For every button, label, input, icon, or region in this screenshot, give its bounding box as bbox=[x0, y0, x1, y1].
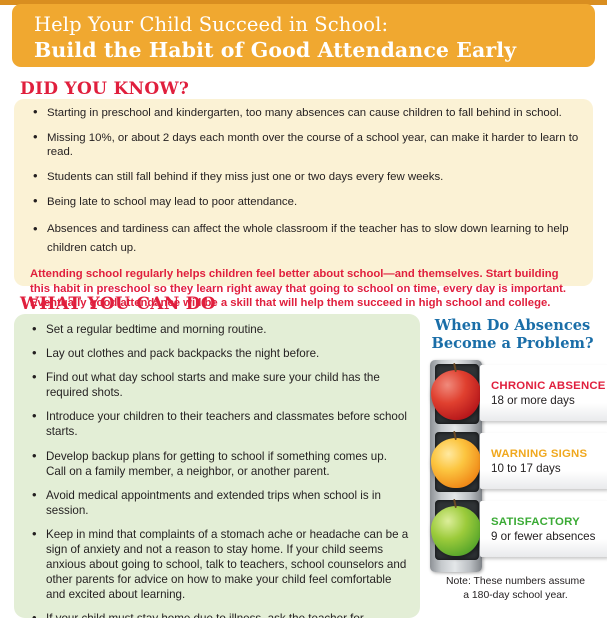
level-value: 10 to 17 days bbox=[491, 461, 607, 476]
lamp-socket-middle bbox=[435, 432, 479, 492]
list-item: Avoid medical appointments and extended … bbox=[24, 488, 410, 518]
label-text-group: SATISFACTORY 9 or fewer absences bbox=[480, 501, 607, 544]
absences-title-line1: When Do Absences bbox=[435, 317, 590, 334]
traffic-light-graphic bbox=[422, 360, 486, 572]
list-item: Introduce your children to their teacher… bbox=[24, 409, 410, 439]
what-you-can-do-panel: Set a regular bedtime and morning routin… bbox=[14, 314, 420, 618]
list-item: Find out what day school starts and make… bbox=[24, 370, 410, 400]
absences-title-line2: Become a Problem? bbox=[424, 335, 601, 353]
level-label: CHRONIC ABSENCE bbox=[491, 379, 607, 393]
header-title-line2: Build the Habit of Good Attendance Early bbox=[34, 37, 595, 63]
lamp-socket-bottom bbox=[435, 500, 479, 560]
infographic-page: Help Your Child Succeed in School: Build… bbox=[0, 0, 607, 618]
level-value: 9 or fewer absences bbox=[491, 529, 607, 544]
absence-level-chronic: CHRONIC ABSENCE 18 or more days bbox=[480, 365, 607, 408]
what-you-can-do-list: Set a regular bedtime and morning routin… bbox=[24, 322, 410, 618]
list-item: Students can still fall behind if they m… bbox=[26, 170, 581, 184]
did-you-know-panel: Starting in preschool and kindergarten, … bbox=[14, 99, 593, 286]
lamp-socket-top bbox=[435, 364, 479, 424]
red-apple-icon bbox=[431, 370, 481, 420]
list-item: If your child must stay home due to illn… bbox=[24, 611, 410, 618]
label-text-group: CHRONIC ABSENCE 18 or more days bbox=[480, 365, 607, 408]
green-apple-icon bbox=[431, 506, 481, 556]
list-item: Missing 10%, or about 2 days each month … bbox=[26, 131, 581, 159]
level-label: SATISFACTORY bbox=[491, 515, 607, 529]
header-title-line1: Help Your Child Succeed in School: bbox=[34, 12, 595, 37]
did-you-know-heading: DID YOU KNOW? bbox=[20, 79, 189, 99]
note-line2: a 180-day school year. bbox=[424, 589, 607, 603]
list-item: Absences and tardiness can affect the wh… bbox=[26, 220, 581, 258]
list-item: Keep in mind that complaints of a stomac… bbox=[24, 527, 410, 602]
list-item: Being late to school may lead to poor at… bbox=[26, 195, 581, 209]
absences-panel: When Do Absences Become a Problem? CHRON… bbox=[424, 313, 607, 618]
level-value: 18 or more days bbox=[491, 393, 607, 408]
list-item: Set a regular bedtime and morning routin… bbox=[24, 322, 410, 337]
level-label: WARNING SIGNS bbox=[491, 447, 607, 461]
yellow-apple-icon bbox=[431, 438, 481, 488]
what-you-can-do-heading: WHAT YOU CAN DO bbox=[20, 294, 216, 314]
list-item: Starting in preschool and kindergarten, … bbox=[26, 106, 581, 120]
list-item: Develop backup plans for getting to scho… bbox=[24, 449, 410, 479]
did-you-know-list: Starting in preschool and kindergarten, … bbox=[26, 106, 581, 258]
absence-level-warning: WARNING SIGNS 10 to 17 days bbox=[480, 433, 607, 476]
label-text-group: WARNING SIGNS 10 to 17 days bbox=[480, 433, 607, 476]
note-line1: Note: These numbers assume bbox=[424, 575, 607, 589]
header-banner: Help Your Child Succeed in School: Build… bbox=[12, 4, 595, 67]
absences-note: Note: These numbers assume a 180-day sch… bbox=[424, 575, 607, 602]
absences-panel-title: When Do Absences Become a Problem? bbox=[424, 313, 607, 352]
absence-level-satisfactory: SATISFACTORY 9 or fewer absences bbox=[480, 501, 607, 544]
list-item: Lay out clothes and pack backpacks the n… bbox=[24, 346, 410, 361]
